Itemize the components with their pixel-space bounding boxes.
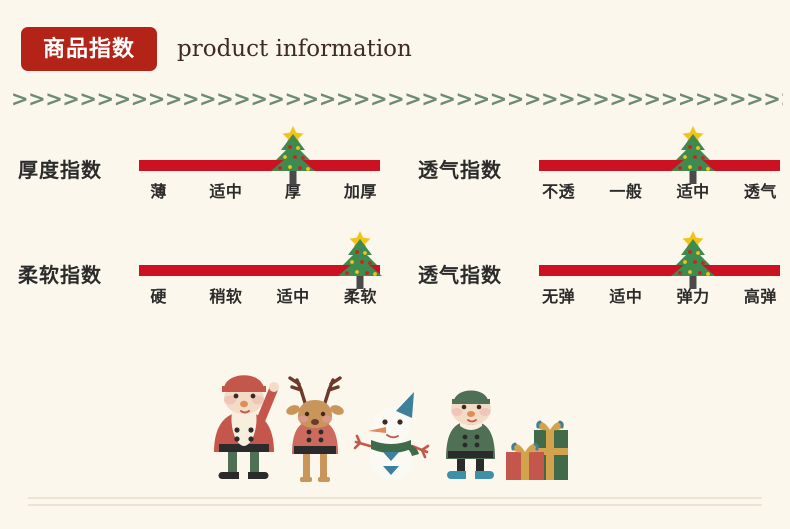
- index-meter-bar: [539, 265, 780, 276]
- index-meter[interactable]: 硬稍软适中柔软: [139, 231, 380, 326]
- gift-boxes: [504, 410, 570, 491]
- index-name-label: 透气指数: [418, 154, 502, 183]
- index-tick-label: 高弹: [727, 283, 790, 307]
- index-meter[interactable]: 无弹适中弹力高弹: [539, 231, 780, 326]
- footer-rule-bottom: [28, 504, 762, 506]
- index-meter-bar: [139, 160, 380, 171]
- index-tick-label: 不透: [525, 178, 592, 202]
- footer-rule-top: [28, 497, 762, 499]
- index-tick-label: 适中: [260, 283, 327, 307]
- index-tick-label: 透气: [727, 178, 790, 202]
- index-tick-labels: 不透一般适中透气: [525, 178, 790, 202]
- index-tick-label: 适中: [592, 283, 659, 307]
- index-tick-label: 无弹: [525, 283, 592, 307]
- elf-figure: [438, 385, 504, 490]
- index-tree-marker[interactable]: [664, 229, 722, 291]
- index-name-label: 柔软指数: [18, 259, 102, 288]
- index-row: 透气指数无弹适中弹力高弹: [418, 231, 783, 326]
- christmas-illustration: [200, 368, 580, 493]
- index-row: 透气指数不透一般适中透气: [418, 126, 783, 221]
- index-tree-marker[interactable]: [664, 124, 722, 186]
- index-tick-label: 适中: [192, 178, 259, 202]
- index-tick-labels: 无弹适中弹力高弹: [525, 283, 790, 307]
- santa-figure: [208, 368, 280, 491]
- title-badge-label: 商品指数: [43, 38, 135, 60]
- index-tick-label: 加厚: [327, 178, 394, 202]
- page-subtitle: product information: [177, 36, 412, 62]
- index-tick-label: 稍软: [192, 283, 259, 307]
- snowman-figure: [352, 386, 432, 491]
- index-tree-marker[interactable]: [331, 229, 389, 291]
- chevron-divider: >>>>>>>>>>>>>>>>>>>>>>>>>>>>>>>>>>>>>>>>…: [11, 88, 783, 110]
- index-tree-marker[interactable]: [264, 124, 322, 186]
- index-name-label: 厚度指数: [18, 154, 102, 183]
- page-header: 商品指数 product information: [0, 0, 790, 86]
- index-row: 柔软指数硬稍软适中柔软: [18, 231, 393, 326]
- index-tick-label: 硬: [125, 283, 192, 307]
- index-meter[interactable]: 薄适中厚加厚: [139, 126, 380, 221]
- product-index-grid: 厚度指数薄适中厚加厚透气指数不透一般适中透气柔软指数硬稍软适中柔软透气指数无弹适…: [0, 126, 790, 336]
- index-tick-labels: 薄适中厚加厚: [125, 178, 394, 202]
- index-tick-label: 薄: [125, 178, 192, 202]
- index-meter[interactable]: 不透一般适中透气: [539, 126, 780, 221]
- reindeer-figure: [284, 370, 346, 493]
- index-tick-label: 一般: [592, 178, 659, 202]
- index-name-label: 透气指数: [418, 259, 502, 288]
- title-badge: 商品指数: [21, 27, 157, 71]
- index-row: 厚度指数薄适中厚加厚: [18, 126, 393, 221]
- index-meter-bar: [539, 160, 780, 171]
